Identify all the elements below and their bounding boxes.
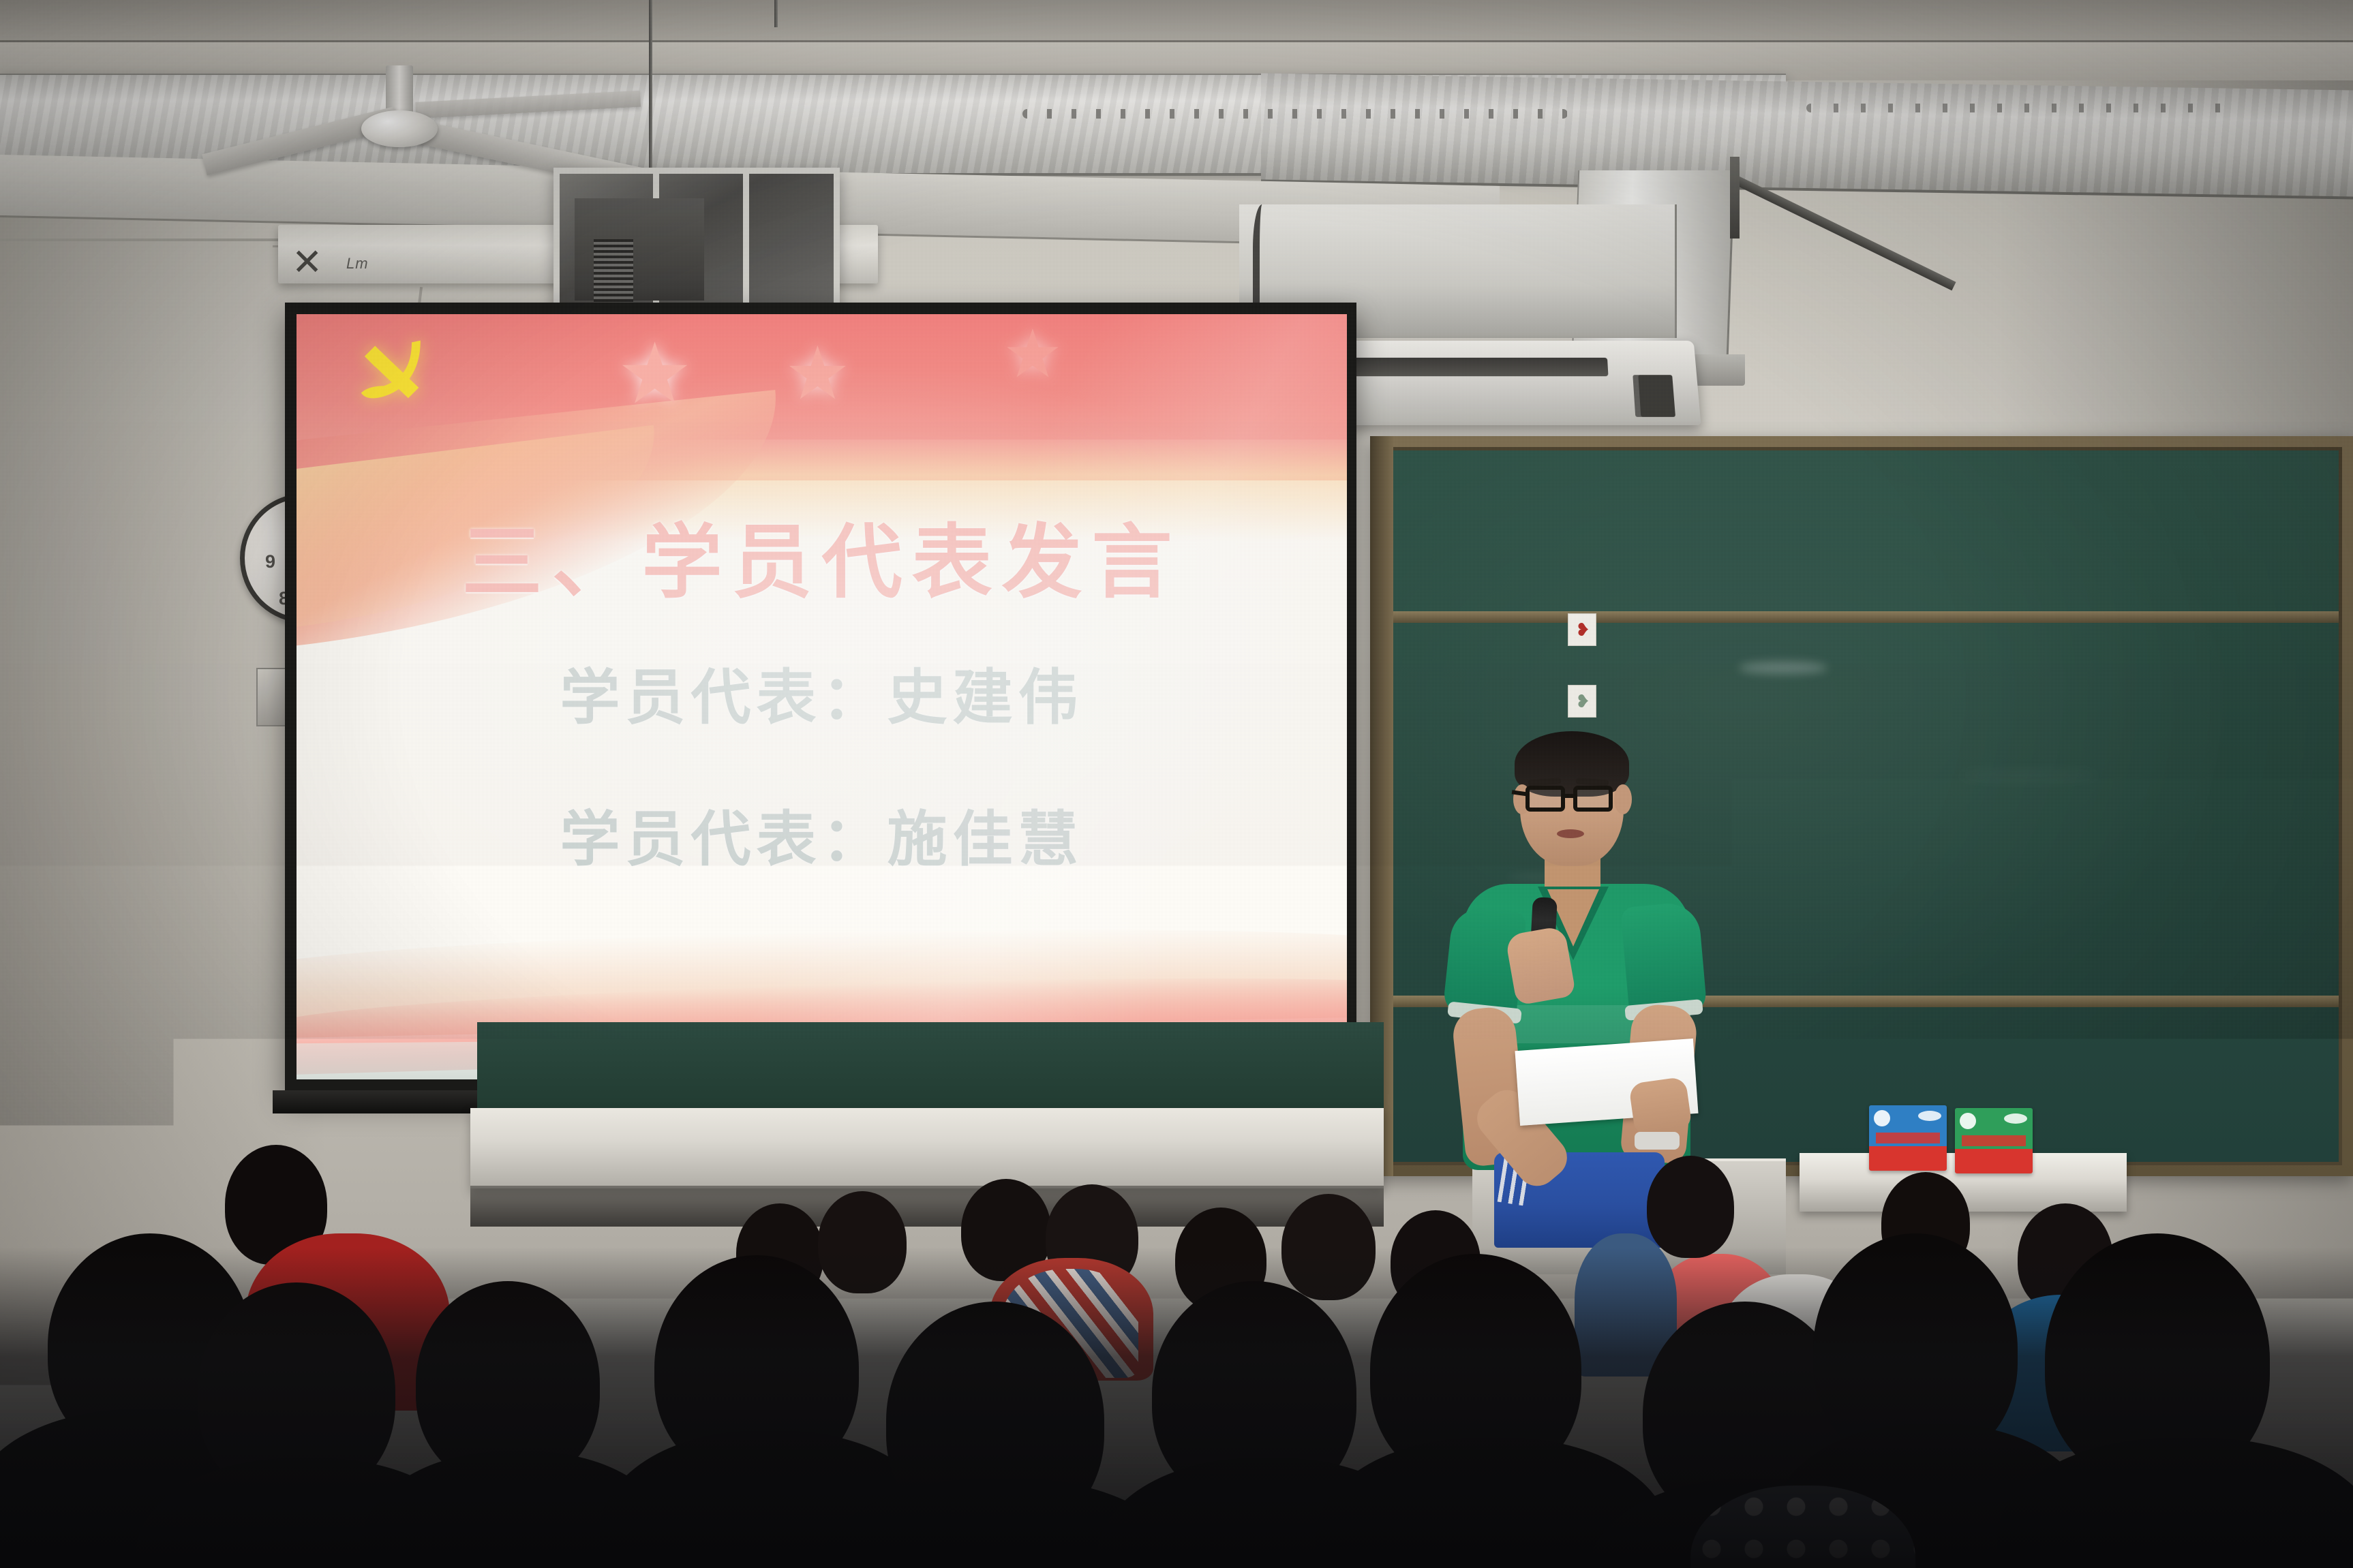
ceiling-brace-vertical [1730, 157, 1740, 239]
audience-foreground-shadow [0, 1248, 2353, 1568]
ceiling-slab [0, 0, 2353, 42]
ceiling-fan-hub [361, 110, 438, 147]
slide-bullet-1: 学员代表：史建伟 [297, 649, 1347, 736]
ac-vent-right [1633, 375, 1675, 417]
roller-brand-label: Lm [346, 255, 369, 273]
chalkboard-sticker-red: ❥ [1568, 613, 1596, 646]
chalk-smudge-1 [1739, 662, 1827, 674]
slide-star-1: ★ [617, 325, 693, 423]
slide-bullet-2: 学员代表：施佳慧 [297, 791, 1347, 878]
speaker-mouth [1557, 829, 1584, 838]
hvac-duct-secondary [1261, 73, 2353, 199]
bird-icon-green: ❥ [1573, 691, 1593, 711]
projector-security-cage [553, 168, 840, 324]
bird-icon-red: ❥ [1573, 619, 1593, 640]
slide-surface: ★ ★ ★ 三、学员代表发言 学员代表：史建伟 学员代表：施佳慧 [297, 314, 1347, 1079]
classroom-photo: Lm ✕ 10 9 8 7 [0, 0, 2353, 1568]
wall-seam-upper [0, 239, 286, 241]
clock-numeral-9: 9 [265, 551, 275, 572]
slide-title: 三、学员代表发言 [297, 497, 1347, 613]
glasses-lens-left [1525, 786, 1565, 812]
hammer-and-sickle-emblem [348, 332, 444, 419]
chalkboard-rail-upper [1384, 611, 2339, 623]
audience-head [1647, 1156, 1734, 1258]
duct-hanger-rod-1 [649, 0, 652, 170]
chalk-smudge-2 [1957, 771, 2100, 780]
duct-hanger-rod-2 [774, 0, 778, 27]
speaker-ear-right [1614, 784, 1632, 814]
chalkboard-sticker-green: ❥ [1568, 685, 1596, 718]
projector-body [575, 198, 704, 301]
duct-rivets-right [1806, 104, 2229, 112]
slide-star-3: ★ [1003, 316, 1063, 393]
glasses-bridge [1564, 794, 1576, 798]
projector-vent-grille [594, 239, 633, 302]
audience [0, 1009, 2353, 1568]
projection-screen: ★ ★ ★ 三、学员代表发言 学员代表：史建伟 学员代表：施佳慧 [285, 303, 1356, 1093]
glasses-lens-right [1573, 786, 1613, 812]
duct-rivets [1022, 109, 1568, 119]
ac-drain-pipe [1253, 204, 1276, 313]
cable-knot-icon: ✕ [292, 244, 329, 281]
slide-star-2: ★ [785, 330, 851, 416]
